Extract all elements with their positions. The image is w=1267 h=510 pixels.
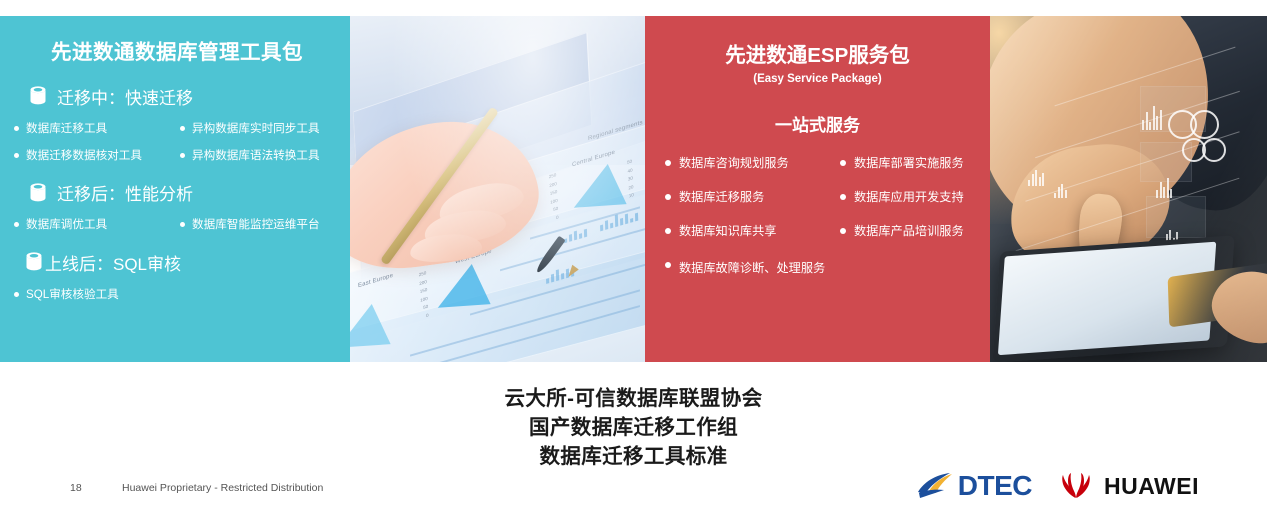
bullet-dot-icon [840,194,846,200]
teal-section-3-items: SQL审核核验工具 [14,288,340,301]
list-item: 数据库迁移服务 [665,190,840,204]
list-item: 数据库故障诊断、处理服务 [657,258,978,276]
list-item-label: 数据库应用开发支持 [854,190,964,204]
page-number: 18 [70,482,82,494]
database-icon [28,85,48,107]
red-service-panel: 先进数通ESP服务包 (Easy Service Package) 一站式服务 … [645,16,990,362]
teal-panel-title: 先进数通数据库管理工具包 [14,28,340,66]
teal-product-panel: 先进数通数据库管理工具包 迁移中：快速迁移 数据库迁移工具 异构数据库实时同步工… [0,16,350,362]
banner-strip: 先进数通数据库管理工具包 迁移中：快速迁移 数据库迁移工具 异构数据库实时同步工… [0,16,1267,362]
bullet-dot-icon [14,126,19,131]
list-item-label: 数据库产品培训服务 [854,224,964,238]
bullet-dot-icon [180,222,185,227]
red-panel-items: 数据库咨询规划服务 数据库部署实施服务 数据库迁移服务 数据库应用开发支持 数据… [657,156,978,238]
hud-bar-chart [1156,176,1172,198]
list-item: 数据库智能监控运维平台 [180,218,340,231]
hud-ring-icon [1190,110,1219,139]
area-chart-peak [574,162,634,208]
list-item-label: 异构数据库语法转换工具 [192,149,320,162]
teal-section-heading-3: 上线后：SQL审核 [24,250,340,275]
list-item-label: 数据库调优工具 [26,218,107,231]
teal-section-heading-3-label: 上线后：SQL审核 [45,250,181,275]
bullet-dot-icon [14,292,19,297]
area-chart-peak [350,302,398,348]
list-item: 数据库知识库共享 [665,224,840,238]
list-item: 数据库部署实施服务 [840,156,978,170]
dtec-swoosh-icon [917,471,957,501]
huawei-flower-icon [1058,471,1094,501]
list-item: 数据迁移数据核对工具 [14,149,180,162]
hud-bar-chart [1028,168,1044,186]
list-item-label: 异构数据库实时同步工具 [192,122,320,135]
list-item: 数据库产品培训服务 [840,224,978,238]
slide-canvas: 先进数通数据库管理工具包 迁移中：快速迁移 数据库迁移工具 异构数据库实时同步工… [0,0,1267,510]
bullet-dot-icon [14,153,19,158]
list-item-label: 数据库知识库共享 [679,224,777,238]
list-item-label: 数据库迁移服务 [679,190,764,204]
bullet-dot-icon [180,153,185,158]
teal-section-heading-1-label: 迁移中：快速迁移 [57,84,193,109]
huawei-wordmark: HUAWEI [1104,473,1199,500]
headline-line-1: 云大所-可信数据库联盟协会 [0,384,1267,413]
confidentiality-notice: Huawei Proprietary - Restricted Distribu… [122,482,323,494]
list-item: 数据库迁移工具 [14,122,180,135]
bullet-dot-icon [665,160,671,166]
list-item-label: 数据库迁移工具 [26,122,107,135]
area-chart-peak [438,262,498,308]
teal-section-2-items: 数据库调优工具 数据库智能监控运维平台 [14,218,340,231]
list-item: 异构数据库实时同步工具 [180,122,340,135]
huawei-logo: HUAWEI [1058,471,1199,501]
list-item-label: 数据库部署实施服务 [854,156,964,170]
logo-row: DTEC HUAWEI [917,470,1199,502]
list-item-label: 数据迁移数据核对工具 [26,149,142,162]
teal-section-heading-2: 迁移后：性能分析 [28,180,340,205]
list-item-label: 数据库智能监控运维平台 [192,218,320,231]
bullet-dot-icon [14,222,19,227]
list-item-label: 数据库咨询规划服务 [679,156,789,170]
bullet-dot-icon [665,262,671,268]
headline-line-2: 国产数据库迁移工作组 [0,413,1267,442]
red-panel-title: 先进数通ESP服务包 [657,16,978,69]
list-item: 数据库应用开发支持 [840,190,978,204]
bullet-dot-icon [665,194,671,200]
database-icon [24,251,44,273]
list-item: 数据库调优工具 [14,218,180,231]
database-icon [28,182,48,204]
bullet-dot-icon [840,228,846,234]
headline-line-3: 数据库迁移工具标准 [0,442,1267,471]
red-panel-subtitle: (Easy Service Package) [657,69,978,85]
teal-section-1-items: 数据库迁移工具 异构数据库实时同步工具 数据迁移数据核对工具 异构数据库语法转换… [14,122,340,163]
list-item-label: SQL审核核验工具 [26,288,119,301]
red-panel-section-heading: 一站式服务 [657,85,978,136]
dtec-wordmark: DTEC [958,470,1032,502]
teal-section-heading-1: 迁移中：快速迁移 [28,84,340,109]
teal-section-heading-2-label: 迁移后：性能分析 [57,180,193,205]
list-item: SQL审核核验工具 [14,288,340,301]
bullet-dot-icon [180,126,185,131]
bullet-dot-icon [840,160,846,166]
photo-hand-writing-charts: Regional segments Central Europe West Eu… [350,16,645,362]
photo-finger-tablet-analytics [990,16,1267,362]
page-title: 云大所-可信数据库联盟协会 国产数据库迁移工作组 数据库迁移工具标准 [0,384,1267,471]
list-item: 异构数据库语法转换工具 [180,149,340,162]
bullet-dot-icon [665,228,671,234]
list-item: 数据库咨询规划服务 [665,156,840,170]
list-item-label: 数据库故障诊断、处理服务 [679,258,825,276]
dtec-logo: DTEC [917,470,1032,502]
